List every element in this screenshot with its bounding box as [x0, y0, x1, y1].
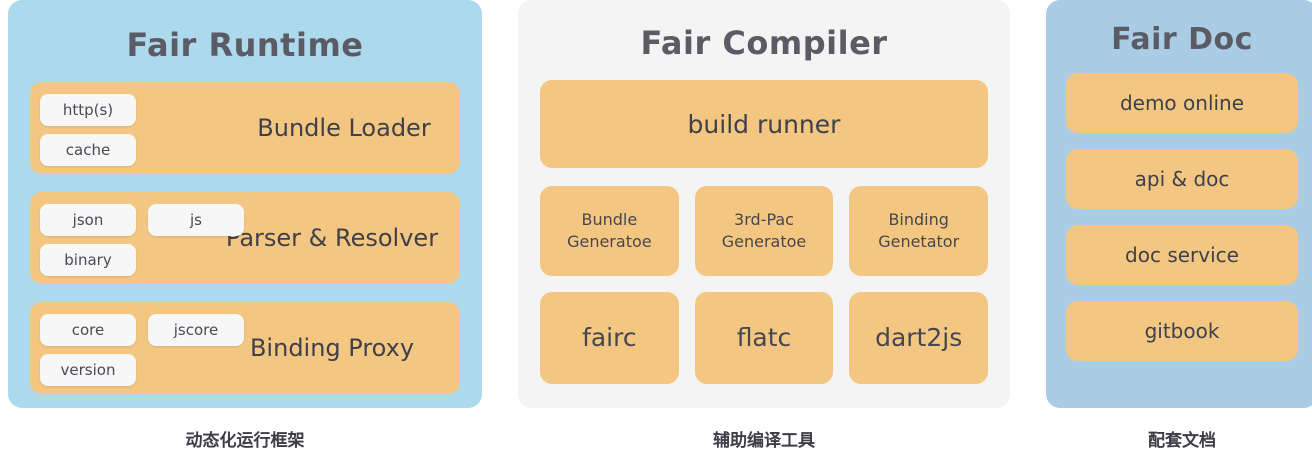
caption-fair-doc: 配套文档 — [1148, 426, 1216, 451]
compiler-generator-row: Bundle Generatoe 3rd-Pac Generatoe Bindi… — [540, 186, 988, 276]
chip-json: json — [40, 204, 136, 236]
runtime-row-label-bundle-loader: Bundle Loader — [240, 114, 460, 142]
doc-item-gitbook: gitbook — [1066, 301, 1298, 361]
doc-item-demo-online: demo online — [1066, 73, 1298, 133]
panel-fair-runtime: Fair Runtime http(s) cache Bundle Loader… — [8, 0, 482, 408]
compiler-block-flatc: flatc — [695, 292, 834, 384]
runtime-chip-group-parser-resolver: json binary js — [30, 192, 240, 284]
panel-fair-doc: Fair Doc demo online api & doc doc servi… — [1046, 0, 1312, 408]
caption-fair-runtime: 动态化运行框架 — [186, 426, 305, 451]
compiler-block-binding-generator: Binding Genetator — [849, 186, 988, 276]
chip-https: http(s) — [40, 94, 136, 126]
doc-item-api-doc: api & doc — [1066, 149, 1298, 209]
compiler-block-3rd-pac-generator: 3rd-Pac Generatoe — [695, 186, 834, 276]
panel-title-fair-compiler: Fair Compiler — [540, 24, 988, 62]
chip-core: core — [40, 314, 136, 346]
compiler-block-bundle-generator-line1: Bundle — [581, 209, 637, 231]
compiler-tool-row: fairc flatc dart2js — [540, 292, 988, 384]
chip-binary: binary — [40, 244, 136, 276]
panel-title-fair-doc: Fair Doc — [1066, 22, 1298, 57]
runtime-chip-group-bundle-loader: http(s) cache — [30, 82, 240, 174]
compiler-block-bundle-generator: Bundle Generatoe — [540, 186, 679, 276]
compiler-block-3rd-pac-generator-line1: 3rd-Pac — [734, 209, 794, 231]
compiler-block-build-runner: build runner — [540, 80, 988, 168]
compiler-block-3rd-pac-generator-line2: Generatoe — [722, 231, 807, 253]
compiler-block-dart2js: dart2js — [849, 292, 988, 384]
caption-fair-compiler: 辅助编译工具 — [713, 426, 815, 451]
runtime-chip-group-binding-proxy: core version jscore — [30, 302, 240, 394]
chip-version: version — [40, 354, 136, 386]
chip-cache: cache — [40, 134, 136, 166]
runtime-row-parser-resolver: json binary js Parser & Resolver — [30, 192, 460, 284]
column-fair-compiler: Fair Compiler build runner Bundle Genera… — [518, 0, 1010, 451]
compiler-block-bundle-generator-line2: Generatoe — [567, 231, 652, 253]
compiler-block-binding-generator-line2: Genetator — [878, 231, 959, 253]
runtime-row-binding-proxy: core version jscore Binding Proxy — [30, 302, 460, 394]
runtime-row-label-binding-proxy: Binding Proxy — [216, 334, 460, 362]
chip-jscore: jscore — [148, 314, 244, 346]
chip-js: js — [148, 204, 244, 236]
panel-title-fair-runtime: Fair Runtime — [30, 26, 460, 64]
compiler-block-binding-generator-line1: Binding — [888, 209, 948, 231]
panel-fair-compiler: Fair Compiler build runner Bundle Genera… — [518, 0, 1010, 408]
diagram-canvas: Fair Runtime http(s) cache Bundle Loader… — [0, 0, 1312, 474]
compiler-block-fairc: fairc — [540, 292, 679, 384]
column-fair-doc: Fair Doc demo online api & doc doc servi… — [1046, 0, 1312, 451]
runtime-row-bundle-loader: http(s) cache Bundle Loader — [30, 82, 460, 174]
runtime-row-label-parser-resolver: Parser & Resolver — [216, 224, 460, 252]
doc-item-doc-service: doc service — [1066, 225, 1298, 285]
column-fair-runtime: Fair Runtime http(s) cache Bundle Loader… — [8, 0, 482, 451]
